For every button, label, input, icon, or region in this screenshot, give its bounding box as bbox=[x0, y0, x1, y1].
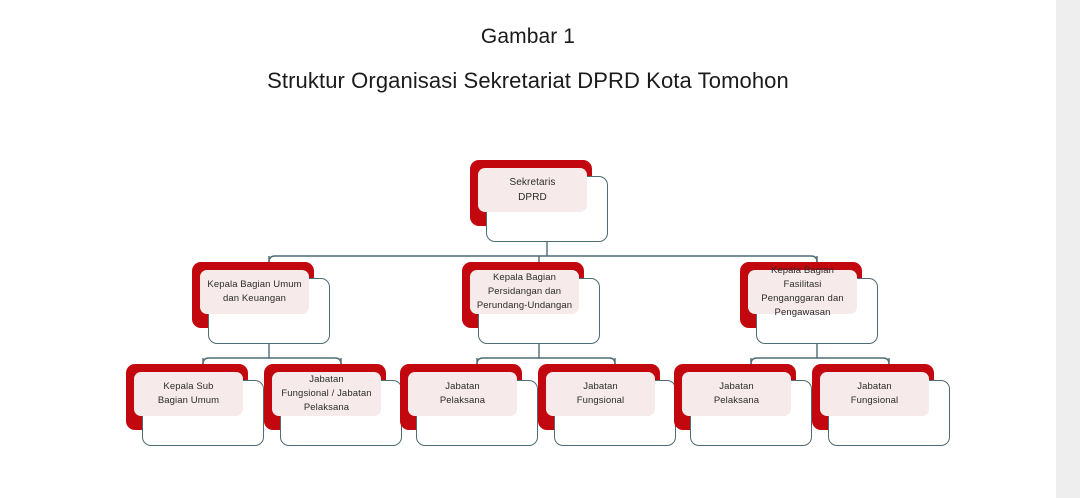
org-node-card: Jabatan Fungsional bbox=[554, 380, 676, 446]
org-node-label: Jabatan Pelaksana bbox=[714, 380, 759, 408]
org-node-card: Kepala Bagian Persidangan dan Perundang-… bbox=[478, 278, 600, 344]
org-node: Sekretaris DPRD bbox=[470, 160, 608, 242]
org-node-inner: Kepala Bagian Persidangan dan Perundang-… bbox=[470, 270, 579, 314]
org-node-inner: Jabatan Fungsional / Jabatan Pelaksana bbox=[272, 372, 381, 416]
org-node-label: Jabatan Fungsional bbox=[577, 380, 624, 408]
org-node: Jabatan Fungsional bbox=[538, 364, 676, 446]
page-gutter bbox=[1056, 0, 1080, 498]
org-node-label: Kepala Bagian Persidangan dan Perundang-… bbox=[477, 271, 572, 313]
figure-canvas: Gambar 1 Struktur Organisasi Sekretariat… bbox=[0, 0, 1056, 498]
org-node-label: Jabatan Pelaksana bbox=[440, 380, 485, 408]
org-node: Jabatan Fungsional bbox=[812, 364, 950, 446]
org-node-label: Kepala Bagian Umum dan Keuangan bbox=[207, 278, 301, 306]
org-node-inner: Sekretaris DPRD bbox=[478, 168, 587, 212]
org-node-card: Kepala Bagian Fasilitasi Penganggaran da… bbox=[756, 278, 878, 344]
org-node: Kepala Bagian Umum dan Keuangan bbox=[192, 262, 330, 344]
org-node-card: Kepala Sub Bagian Umum bbox=[142, 380, 264, 446]
org-node-card: Sekretaris DPRD bbox=[486, 176, 608, 242]
org-node-inner: Kepala Bagian Fasilitasi Penganggaran da… bbox=[748, 270, 857, 314]
org-chart: Sekretaris DPRDKepala Bagian Umum dan Ke… bbox=[0, 0, 1056, 498]
org-node-inner: Kepala Sub Bagian Umum bbox=[134, 372, 243, 416]
org-node-card: Kepala Bagian Umum dan Keuangan bbox=[208, 278, 330, 344]
org-node-card: Jabatan Fungsional / Jabatan Pelaksana bbox=[280, 380, 402, 446]
org-node-label: Jabatan Fungsional / Jabatan Pelaksana bbox=[281, 373, 371, 415]
org-node-card: Jabatan Pelaksana bbox=[416, 380, 538, 446]
document-page: Gambar 1 Struktur Organisasi Sekretariat… bbox=[0, 0, 1080, 498]
org-node: Jabatan Pelaksana bbox=[674, 364, 812, 446]
org-node-inner: Jabatan Pelaksana bbox=[682, 372, 791, 416]
org-node-inner: Kepala Bagian Umum dan Keuangan bbox=[200, 270, 309, 314]
org-node-inner: Jabatan Fungsional bbox=[546, 372, 655, 416]
org-node-label: Kepala Bagian Fasilitasi Penganggaran da… bbox=[761, 264, 843, 320]
org-node-label: Kepala Sub Bagian Umum bbox=[158, 380, 219, 408]
org-node: Jabatan Fungsional / Jabatan Pelaksana bbox=[264, 364, 402, 446]
org-node-label: Jabatan Fungsional bbox=[851, 380, 898, 408]
org-node-card: Jabatan Fungsional bbox=[828, 380, 950, 446]
org-node-label: Sekretaris DPRD bbox=[509, 175, 555, 205]
org-node: Kepala Bagian Fasilitasi Penganggaran da… bbox=[740, 262, 878, 344]
org-node-inner: Jabatan Pelaksana bbox=[408, 372, 517, 416]
org-node: Kepala Sub Bagian Umum bbox=[126, 364, 264, 446]
org-node-card: Jabatan Pelaksana bbox=[690, 380, 812, 446]
org-node-inner: Jabatan Fungsional bbox=[820, 372, 929, 416]
org-node: Jabatan Pelaksana bbox=[400, 364, 538, 446]
org-node: Kepala Bagian Persidangan dan Perundang-… bbox=[462, 262, 600, 344]
